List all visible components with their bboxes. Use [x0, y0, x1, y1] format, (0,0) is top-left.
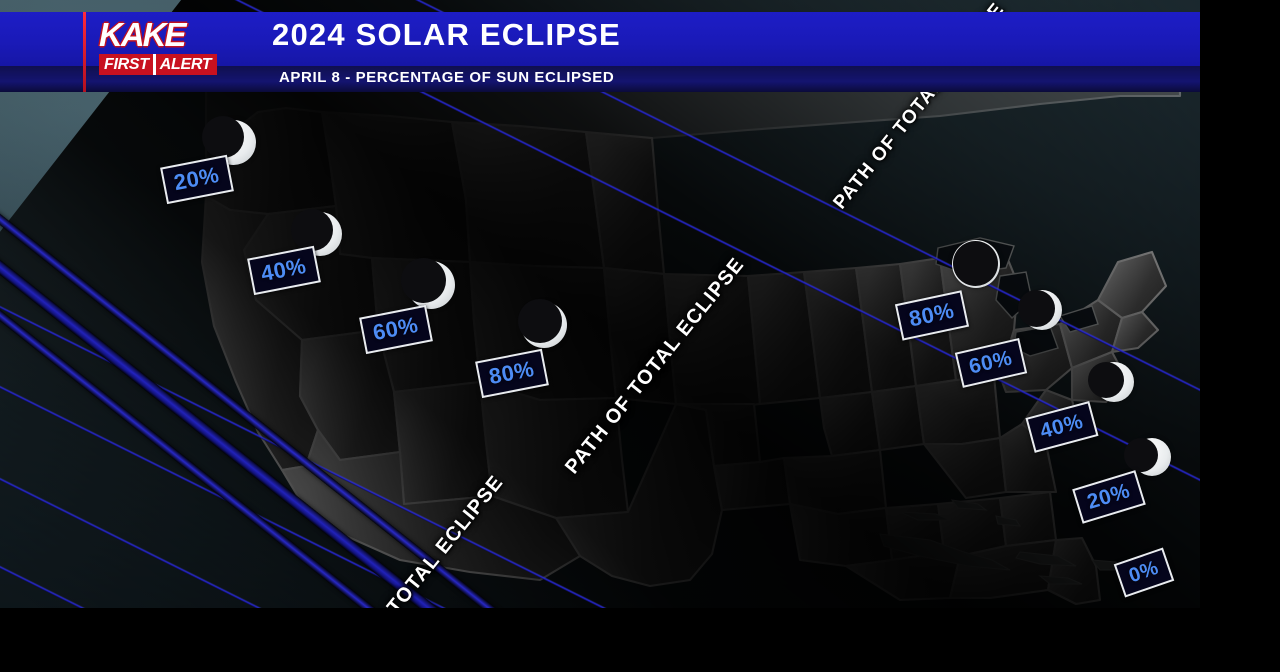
eclipse-map-graphic: 20% 40% 60% 80% 80% 60% 40% 20% 0% PATH …: [0, 0, 1280, 672]
logo-divider: [83, 12, 86, 92]
first-alert-badge: FIRST ALERT: [99, 54, 217, 75]
letterbox-right: [1200, 0, 1280, 672]
first-text: FIRST: [99, 54, 153, 75]
kake-wordmark: KAKE: [99, 18, 185, 51]
page-title: 2024 SOLAR ECLIPSE: [272, 19, 621, 50]
kake-first-alert-logo: KAKE FIRST ALERT: [83, 12, 235, 92]
alert-text: ALERT: [153, 54, 218, 75]
state-polygons: [202, 46, 1180, 604]
letterbox-bottom: [0, 608, 1280, 672]
page-subtitle: APRIL 8 - PERCENTAGE OF SUN ECLIPSED: [279, 70, 614, 85]
